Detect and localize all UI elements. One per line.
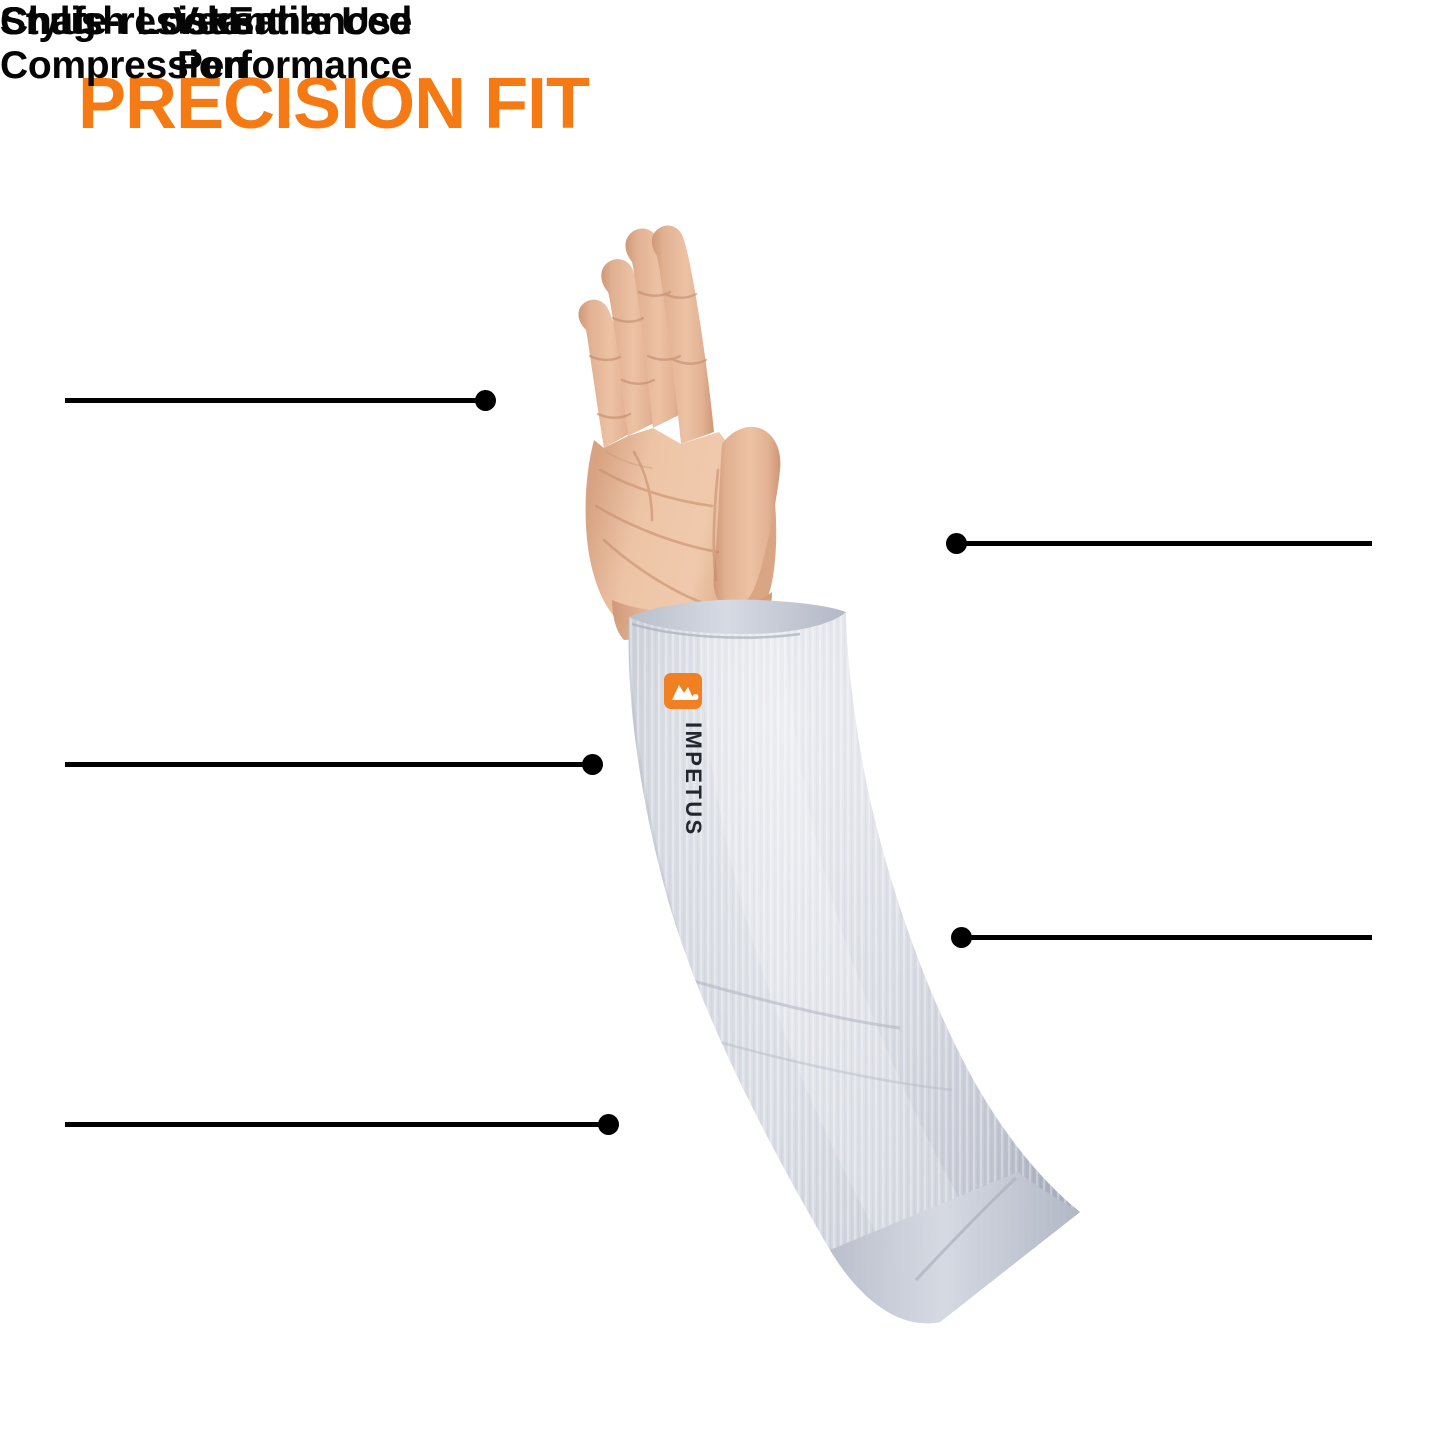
callout-rule-versatile-use [957, 541, 1372, 546]
callout-label-enhanced-performance: Enhanced Performance [0, 0, 412, 87]
callout-rule-chafe-resistant [65, 762, 592, 767]
callout-dot-stylish-look [598, 1114, 619, 1135]
arm-sleeve [600, 600, 1120, 1360]
callout-dot-snug-compression [475, 390, 496, 411]
callout-rule-snug-compression [65, 398, 485, 403]
infographic-canvas: IMPETUS PRECISION FIT Snug Compression C… [0, 0, 1445, 1445]
callout-dot-enhanced-performance [951, 927, 972, 948]
callout-rule-enhanced-performance [962, 935, 1372, 940]
callout-enhanced-performance: Enhanced Performance [0, 0, 412, 87]
impetus-brand-text: IMPETUS [681, 722, 706, 837]
callout-rule-stylish-look [65, 1122, 608, 1127]
product-illustration: IMPETUS [0, 0, 1445, 1445]
impetus-logo-mark [664, 673, 702, 709]
callout-dot-chafe-resistant [582, 754, 603, 775]
callout-dot-versatile-use [946, 533, 967, 554]
